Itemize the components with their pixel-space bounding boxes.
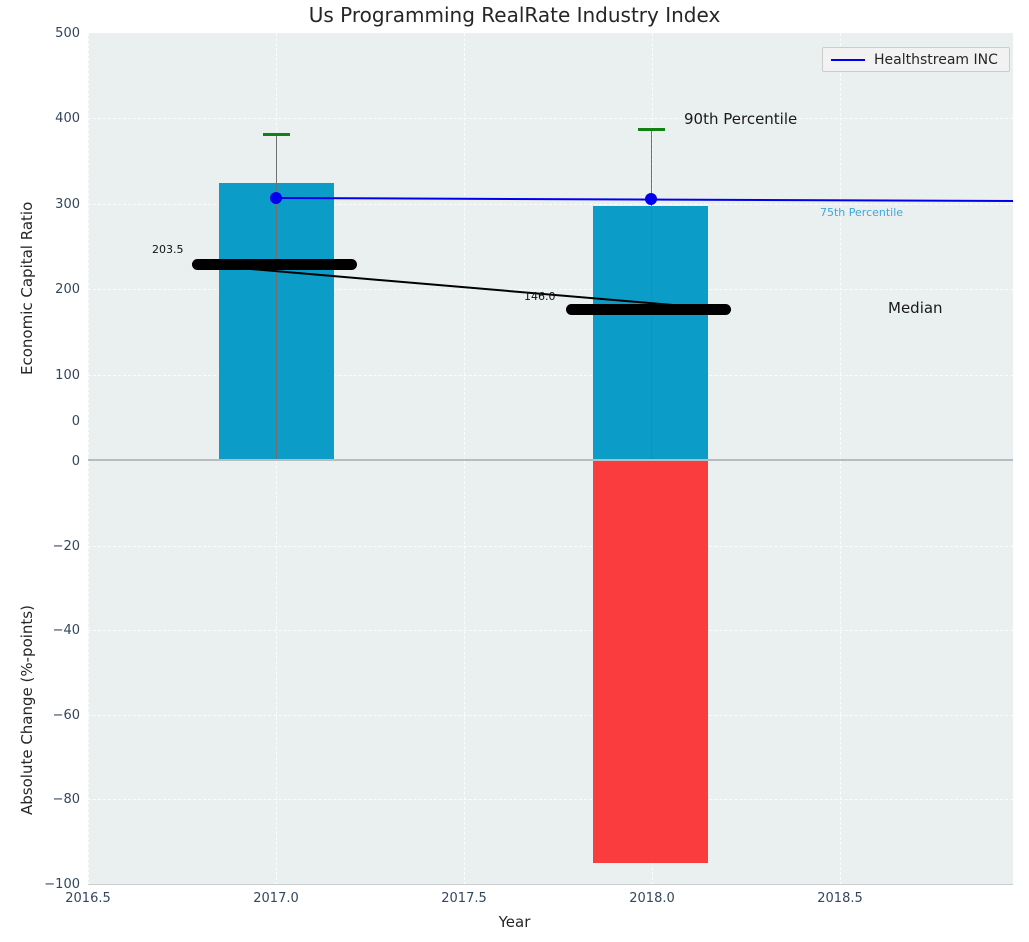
gridline-top-400 — [88, 118, 1013, 119]
xtick-2017-5: 2017.5 — [424, 891, 504, 906]
gridline-x-2017-5-bottom — [464, 461, 465, 885]
gridline-x-2017-5-top — [464, 33, 465, 460]
ytick-bottom-m60: −60 — [53, 708, 80, 723]
gridline-x-2017-bottom — [276, 461, 277, 885]
annotation-median: Median — [888, 299, 943, 317]
ytick-top-400: 400 — [55, 111, 80, 126]
p90-cap-2018 — [638, 128, 665, 131]
ytick-top-500: 500 — [55, 26, 80, 41]
whisker-line-2018 — [651, 129, 652, 460]
annotation-75th-percentile: 75th Percentile — [820, 206, 903, 219]
ytick-top-200: 200 — [55, 282, 80, 297]
median-bar-2017 — [192, 259, 357, 270]
ytick-bottom-m20: −20 — [53, 539, 80, 554]
gridline-x-2016-5-bottom — [88, 461, 89, 885]
y-axis-label-top: Economic Capital Ratio — [18, 202, 36, 375]
ytick-top-0: 0 — [72, 414, 80, 429]
y-axis-label-bottom: Absolute Change (%-points) — [18, 605, 36, 815]
ytick-bottom-m80: −80 — [53, 792, 80, 807]
ytick-top-300: 300 — [55, 197, 80, 212]
annotation-90th-percentile: 90th Percentile — [684, 110, 797, 128]
legend[interactable]: Healthstream INC — [822, 47, 1010, 72]
xtick-2016-5: 2016.5 — [48, 891, 128, 906]
ytick-top-100: 100 — [55, 368, 80, 383]
xtick-2018-0: 2018.0 — [612, 891, 692, 906]
ytick-bottom-0: 0 — [72, 454, 80, 469]
ytick-bottom-m40: −40 — [53, 623, 80, 638]
legend-label-healthstream-inc: Healthstream INC — [874, 52, 998, 68]
plot-area-bottom — [88, 461, 1013, 885]
median-bar-2018 — [566, 304, 731, 315]
xtick-2017-0: 2017.0 — [236, 891, 316, 906]
data-label-2018-median: 146.0 — [524, 290, 556, 303]
gridline-bottom-m80 — [88, 799, 1013, 800]
gridline-bottom-m60 — [88, 715, 1013, 716]
x-axis-label: Year — [0, 913, 1029, 931]
gridline-bottom-m20 — [88, 546, 1013, 547]
gridline-bottom-m40 — [88, 630, 1013, 631]
p90-cap-2017 — [263, 133, 290, 136]
chart-figure: Us Programming RealRate Industry Index 2… — [0, 0, 1029, 942]
chart-title: Us Programming RealRate Industry Index — [0, 3, 1029, 27]
legend-line-swatch-icon — [831, 59, 865, 61]
x-axis-spine — [88, 884, 1013, 885]
gridline-x-2016-5-top — [88, 33, 89, 460]
xtick-2018-5: 2018.5 — [800, 891, 880, 906]
bar-2018-absolute-change[interactable] — [593, 461, 708, 863]
data-label-2017-median: 203.5 — [152, 243, 184, 256]
whisker-line-2017 — [276, 134, 277, 460]
ytick-bottom-m100: −100 — [44, 877, 80, 892]
gridline-x-2018-5-bottom — [840, 461, 841, 885]
gridline-x-2018-5-top — [840, 33, 841, 460]
